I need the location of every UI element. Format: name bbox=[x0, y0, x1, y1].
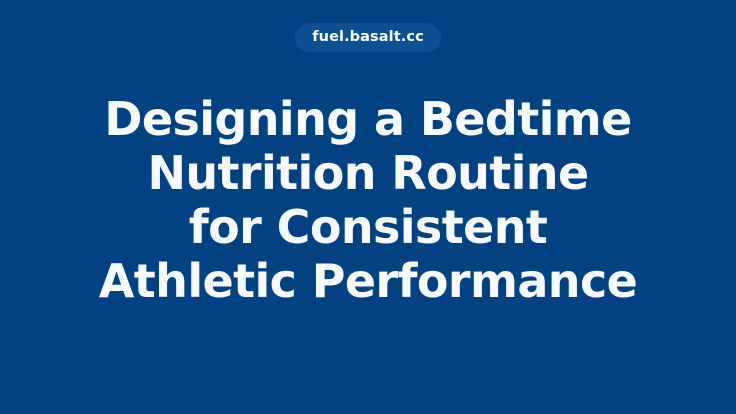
headline-line-2: Nutrition Routine bbox=[40, 146, 696, 200]
site-domain-label: fuel.basalt.cc bbox=[312, 30, 424, 45]
headline-block: Designing a Bedtime Nutrition Routine fo… bbox=[0, 92, 736, 308]
social-share-card: fuel.basalt.cc Designing a Bedtime Nutri… bbox=[0, 0, 736, 414]
headline-line-3: for Consistent bbox=[40, 200, 696, 254]
headline-line-1: Designing a Bedtime bbox=[40, 92, 696, 146]
headline-line-4: Athletic Performance bbox=[40, 254, 696, 308]
site-domain-badge[interactable]: fuel.basalt.cc bbox=[295, 23, 441, 52]
badge-row: fuel.basalt.cc bbox=[0, 23, 736, 52]
